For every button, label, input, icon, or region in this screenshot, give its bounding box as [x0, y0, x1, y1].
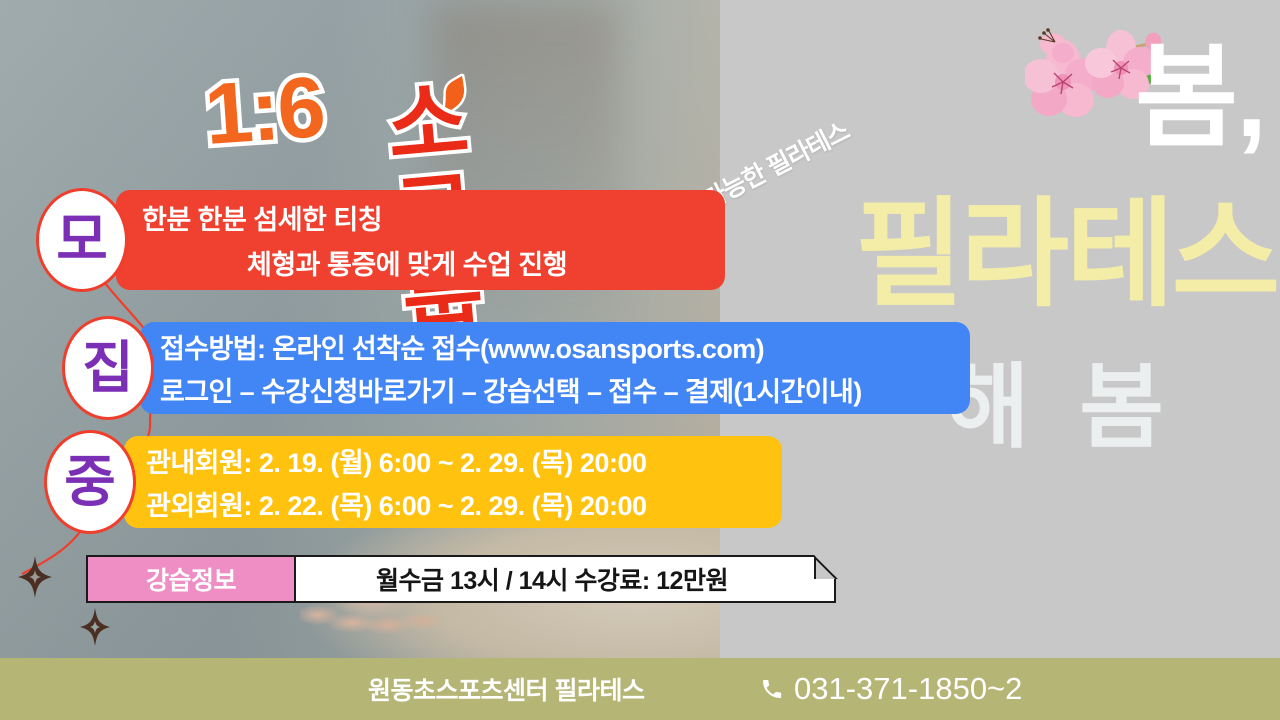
- phone-icon: [760, 677, 784, 701]
- class-info-value: 월수금 13시 / 14시 수강료: 12만원: [296, 557, 834, 601]
- footer-phone: 031-371-1850~2: [760, 671, 1022, 707]
- footer-phone-number: 031-371-1850~2: [794, 671, 1022, 707]
- footer-bar: 원동초스포츠센터 필라테스 031-371-1850~2: [0, 658, 1280, 720]
- row-schedule-line1: 관내회원: 2. 19. (월) 6:00 ~ 2. 29. (목) 20:00: [146, 441, 768, 480]
- row-registration-bar: 접수방법: 온라인 선착순 접수(www.osansports.com) 로그인…: [140, 322, 970, 414]
- word-spring: 봄,: [1135, 42, 1265, 154]
- row-schedule-bar: 관내회원: 2. 19. (월) 6:00 ~ 2. 29. (목) 20:00…: [124, 436, 782, 528]
- row-teaching-line2: 체형과 통증에 맞게 수업 진행: [142, 243, 707, 282]
- headline-ratio: 1:6: [202, 64, 326, 158]
- badge-jip: 집: [62, 316, 154, 420]
- sparkle-icon: [18, 556, 52, 598]
- row-teaching: 한분 한분 섬세한 티칭 체형과 통증에 맞게 수업 진행: [116, 190, 725, 290]
- class-info-label: 강습정보: [88, 557, 296, 601]
- badge-mo: 모: [36, 188, 128, 292]
- row-registration-line1: 접수방법: 온라인 선착순 접수(www.osansports.com): [160, 327, 956, 366]
- row-registration-line2: 로그인 – 수강신청바로가기 – 강습선택 – 접수 – 결제(1시간이내): [160, 370, 956, 409]
- word-pilates: 필라테스: [855, 196, 1277, 314]
- row-schedule: 관내회원: 2. 19. (월) 6:00 ~ 2. 29. (목) 20:00…: [124, 436, 782, 528]
- row-registration: 접수방법: 온라인 선착순 접수(www.osansports.com) 로그인…: [140, 322, 970, 414]
- row-teaching-bar: 한분 한분 섬세한 티칭 체형과 통증에 맞게 수업 진행: [116, 190, 725, 290]
- class-info-strip: 강습정보 월수금 13시 / 14시 수강료: 12만원: [86, 555, 836, 603]
- row-schedule-line2: 관외회원: 2. 22. (목) 6:00 ~ 2. 29. (목) 20:00: [146, 484, 768, 523]
- badge-jung: 중: [44, 430, 136, 534]
- word-do-spring: 해 봄: [945, 362, 1176, 454]
- sparkle-icon: [80, 608, 110, 646]
- footer-organization: 원동초스포츠센터 필라테스: [368, 671, 644, 707]
- poster-canvas: 봄, 필라테스 해 봄 초보도 가능한 필라테스 1:6 소그룹 모 한분 한분…: [0, 0, 1280, 720]
- row-teaching-line1: 한분 한분 섬세한 티칭: [142, 198, 707, 237]
